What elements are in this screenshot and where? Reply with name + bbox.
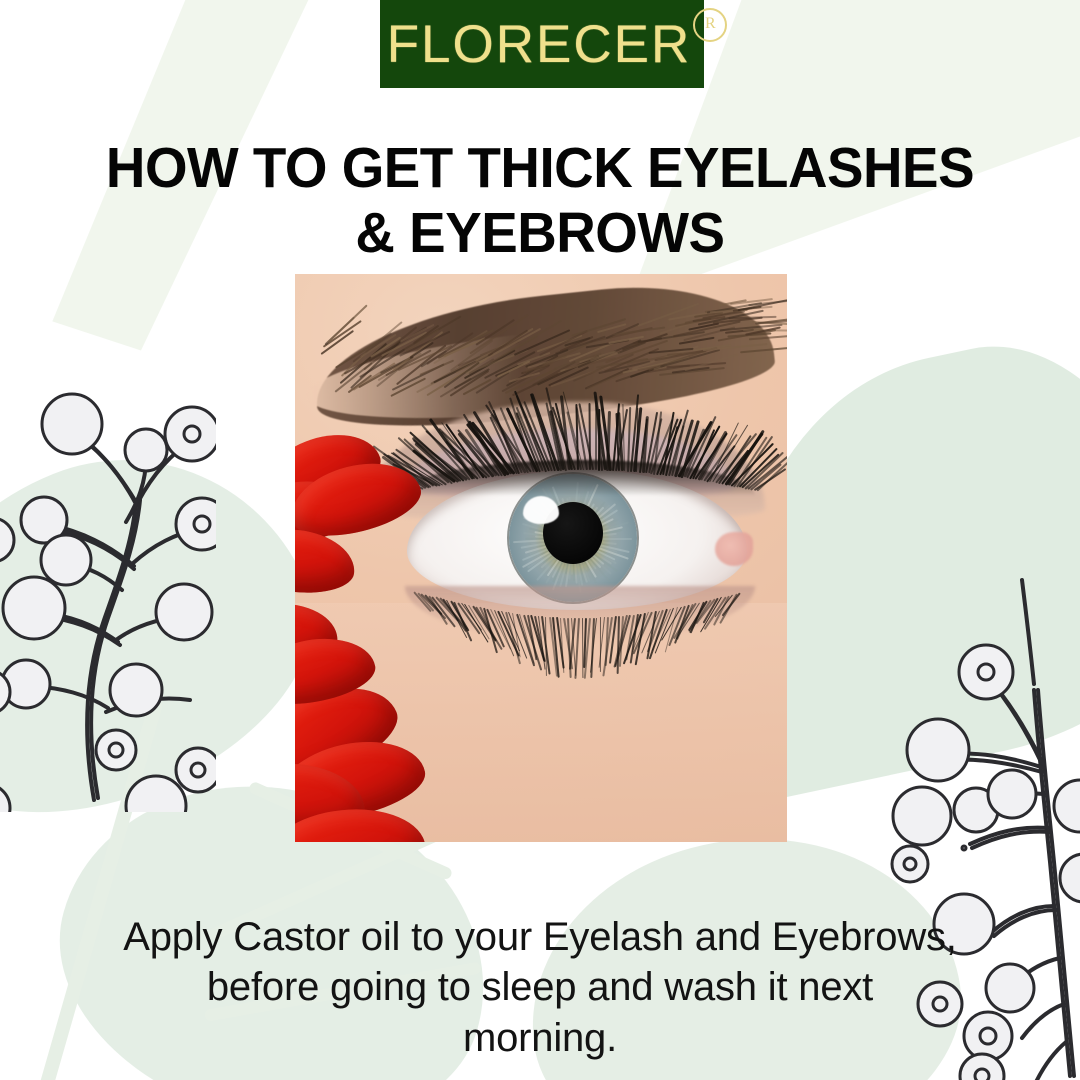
caption-line-3: morning. [60,1013,1020,1063]
page-title-line-2: & EYEBROWS [22,201,1059,265]
caption-line-2: before going to sleep and wash it next [60,962,1020,1012]
eye-inner-corner [715,532,753,566]
instruction-caption: Apply Castor oil to your Eyelash and Eye… [60,912,1020,1063]
brand-logo: FLORECER R [380,0,704,88]
page-title-line-1: HOW TO GET THICK EYELASHES [106,136,974,200]
page-title: HOW TO GET THICK EYELASHES & EYEBROWS [22,136,1059,265]
poster-canvas: FLORECER R HOW TO GET THICK EYELASHES & … [0,0,1080,1080]
caption-line-1: Apply Castor oil to your Eyelash and Eye… [60,912,1020,962]
berry-branch-sketch-left [0,172,216,812]
registered-trademark-icon: R [693,8,727,42]
eye-highlight [523,496,559,524]
brand-logo-text: FLORECER [387,18,692,71]
red-flower-petals [295,444,435,842]
hero-eye-photo [295,274,787,842]
